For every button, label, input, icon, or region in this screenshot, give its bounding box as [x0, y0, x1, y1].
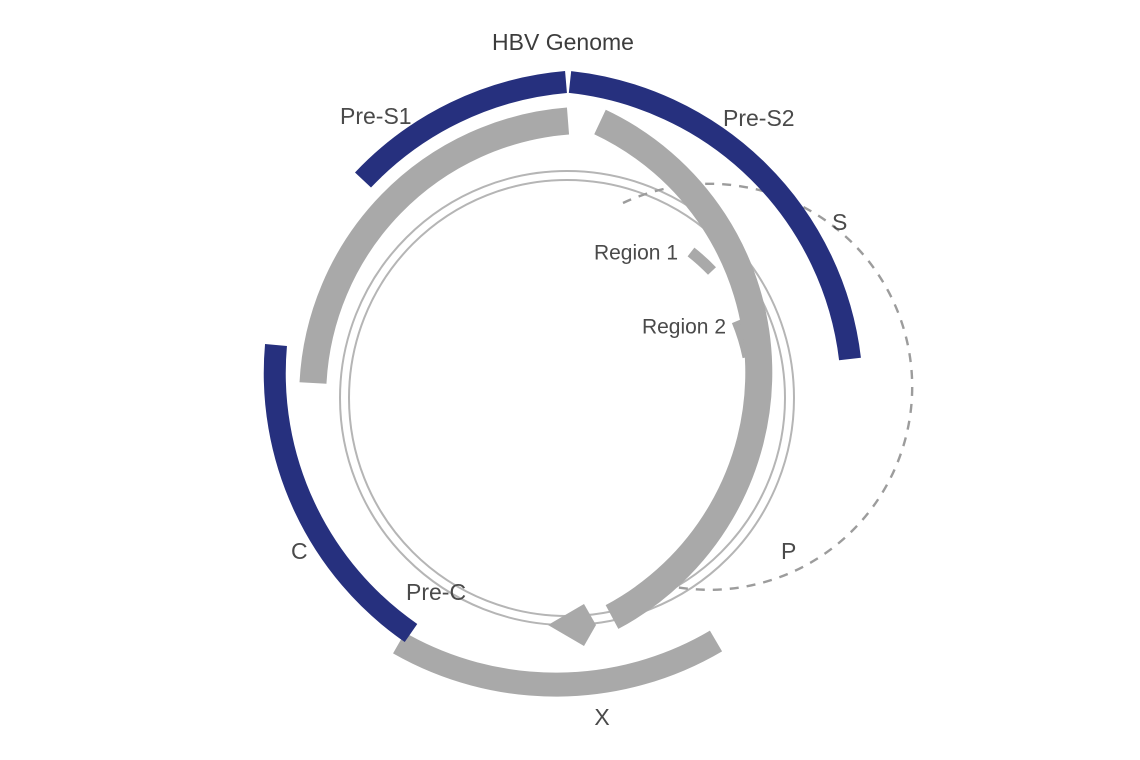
gene-arc-c-pre-c	[275, 345, 411, 633]
gene-arc-x	[399, 641, 716, 685]
hbv-genome-diagram: HBV Genome Pre-S1 Pre-S2 S C Pre-C P X R…	[0, 0, 1140, 760]
genome-svg-canvas: HBV Genome Pre-S1 Pre-S2 S C Pre-C P X R…	[0, 0, 1140, 760]
gene-label-pre-s2: Pre-S2	[723, 105, 795, 131]
page-title: HBV Genome	[492, 29, 634, 55]
gene-label-x: X	[594, 704, 609, 730]
arrowhead-icon-p	[548, 604, 596, 646]
gray-arc-surface-left	[313, 121, 568, 383]
gene-label-c: C	[291, 538, 308, 564]
gene-arc-p	[600, 122, 759, 617]
gene-label-s: S	[832, 209, 847, 235]
region-1-marker	[691, 252, 712, 271]
region-label-2: Region 2	[642, 316, 726, 339]
gene-label-p: P	[781, 538, 796, 564]
region-label-1: Region 1	[594, 242, 678, 265]
gene-label-pre-c: Pre-C	[406, 579, 466, 605]
gene-label-pre-s1: Pre-S1	[340, 103, 412, 129]
